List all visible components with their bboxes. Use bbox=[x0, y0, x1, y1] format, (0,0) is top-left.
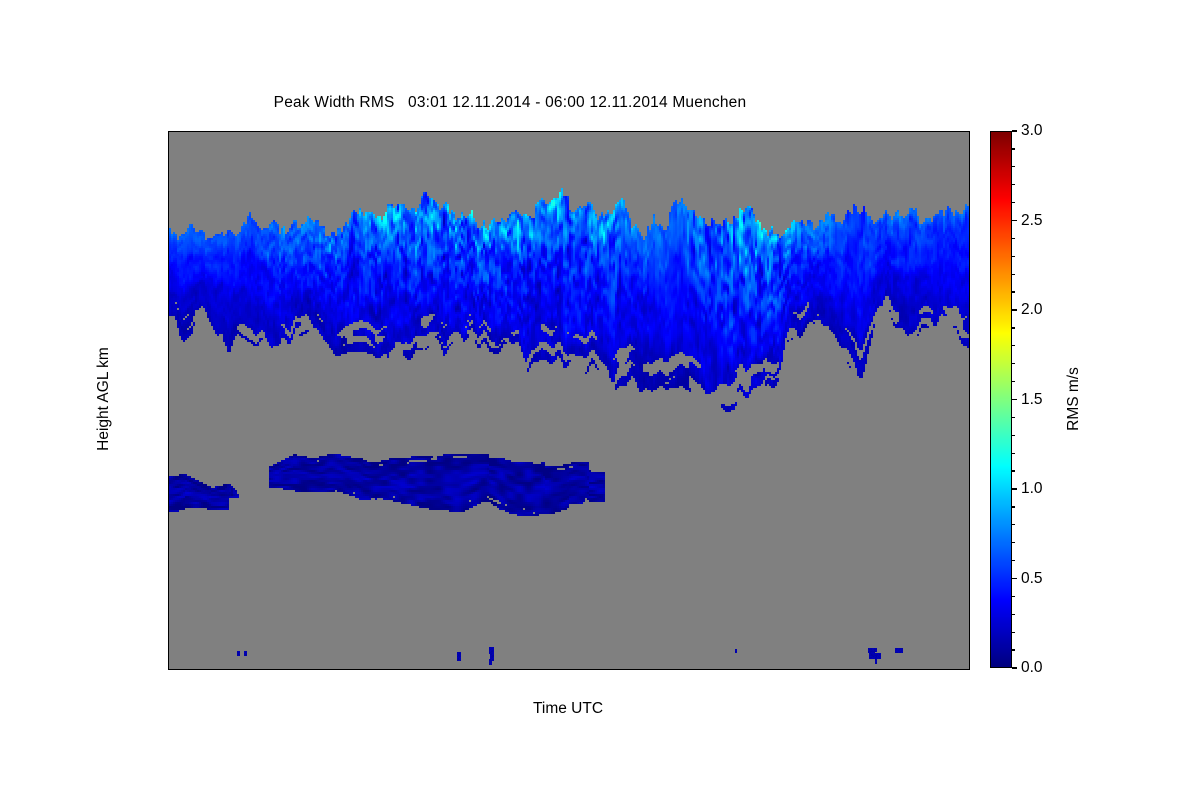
y-axis-tick bbox=[969, 159, 970, 161]
y-axis-tick bbox=[969, 299, 970, 301]
y-axis-tick bbox=[969, 253, 970, 255]
y-axis-tick bbox=[168, 393, 169, 395]
colorbar-minor-tick bbox=[1012, 148, 1015, 149]
y-axis-tick bbox=[969, 346, 970, 348]
colorbar-minor-tick bbox=[1012, 166, 1015, 167]
x-axis-tick bbox=[755, 669, 757, 670]
x-axis-tick bbox=[327, 669, 329, 670]
x-axis-tick bbox=[594, 669, 596, 670]
colorbar-minor-tick bbox=[1012, 614, 1015, 615]
colorbar-minor-tick bbox=[1012, 291, 1015, 292]
colorbar-tick-label: 0.5 bbox=[1021, 570, 1043, 588]
y-axis-tick bbox=[969, 579, 970, 581]
colorbar-minor-tick bbox=[1012, 184, 1015, 185]
y-axis-tick bbox=[969, 206, 970, 208]
colorbar-tick-label: 2.0 bbox=[1021, 301, 1043, 319]
colorbar-tick bbox=[1012, 399, 1017, 400]
x-axis-tick bbox=[274, 669, 276, 670]
y-axis-tick bbox=[168, 626, 169, 628]
y-axis-tick bbox=[168, 206, 169, 208]
colorbar-minor-tick bbox=[1012, 256, 1015, 257]
x-axis-tick bbox=[541, 131, 543, 132]
y-axis-tick bbox=[168, 486, 169, 488]
x-axis-tick bbox=[221, 131, 223, 132]
x-axis-tick bbox=[915, 669, 917, 670]
x-axis-tick bbox=[594, 131, 596, 132]
x-axis-label: Time UTC bbox=[533, 700, 603, 718]
y-axis-tick bbox=[168, 299, 169, 301]
colorbar-minor-tick bbox=[1012, 649, 1015, 650]
x-axis-tick bbox=[327, 131, 329, 132]
figure-canvas: Peak Width RMS 03:01 12.11.2014 - 06:00 … bbox=[0, 0, 1200, 800]
colorbar-minor-tick bbox=[1012, 381, 1015, 382]
x-axis-tick bbox=[274, 131, 276, 132]
colorbar-tick bbox=[1012, 220, 1017, 221]
colorbar-tick-label: 1.5 bbox=[1021, 391, 1043, 409]
x-axis-tick bbox=[915, 131, 917, 132]
y-axis-tick bbox=[168, 253, 169, 255]
y-axis-tick bbox=[969, 626, 970, 628]
x-axis-tick bbox=[381, 669, 383, 670]
x-axis-tick bbox=[381, 131, 383, 132]
colorbar-minor-tick bbox=[1012, 327, 1015, 328]
x-axis-tick bbox=[488, 669, 490, 670]
x-axis-tick bbox=[541, 669, 543, 670]
colorbar-minor-tick bbox=[1012, 542, 1015, 543]
colorbar-minor-tick bbox=[1012, 453, 1015, 454]
colorbar-minor-tick bbox=[1012, 560, 1015, 561]
x-axis-tick bbox=[221, 669, 223, 670]
x-axis-tick bbox=[701, 669, 703, 670]
y-axis-tick bbox=[168, 439, 169, 441]
colorbar-minor-tick bbox=[1012, 596, 1015, 597]
x-axis-tick bbox=[755, 131, 757, 132]
y-axis-tick bbox=[969, 393, 970, 395]
x-axis-tick bbox=[808, 669, 810, 670]
x-axis-tick bbox=[648, 669, 650, 670]
x-axis-tick bbox=[434, 131, 436, 132]
colorbar-minor-tick bbox=[1012, 435, 1015, 436]
x-axis-tick bbox=[648, 131, 650, 132]
colorbar-minor-tick bbox=[1012, 202, 1015, 203]
colorbar-image bbox=[991, 132, 1011, 667]
y-axis-tick bbox=[168, 159, 169, 161]
y-axis-tick bbox=[168, 579, 169, 581]
colorbar-tick bbox=[1012, 667, 1017, 668]
colorbar-tick bbox=[1012, 578, 1017, 579]
y-axis-tick bbox=[168, 533, 169, 535]
colorbar-minor-tick bbox=[1012, 417, 1015, 418]
colorbar[interactable]: 0.00.51.01.52.02.53.0 bbox=[990, 131, 1012, 668]
colorbar-tick-label: 3.0 bbox=[1021, 122, 1043, 140]
y-axis-tick bbox=[969, 486, 970, 488]
x-axis-tick bbox=[434, 669, 436, 670]
colorbar-minor-tick bbox=[1012, 238, 1015, 239]
x-axis-tick bbox=[808, 131, 810, 132]
colorbar-minor-tick bbox=[1012, 470, 1015, 471]
y-axis-tick bbox=[168, 346, 169, 348]
chart-title: Peak Width RMS 03:01 12.11.2014 - 06:00 … bbox=[0, 94, 1020, 112]
colorbar-tick bbox=[1012, 488, 1017, 489]
colorbar-minor-tick bbox=[1012, 506, 1015, 507]
x-axis-tick bbox=[861, 669, 863, 670]
colorbar-minor-tick bbox=[1012, 345, 1015, 346]
colorbar-label: RMS m/s bbox=[1065, 367, 1083, 431]
x-axis-tick bbox=[488, 131, 490, 132]
y-axis-label: Height AGL km bbox=[95, 347, 113, 451]
heatmap-image bbox=[169, 132, 969, 669]
colorbar-tick-label: 2.5 bbox=[1021, 212, 1043, 230]
colorbar-tick-label: 1.0 bbox=[1021, 480, 1043, 498]
colorbar-tick bbox=[1012, 130, 1017, 131]
plot-area[interactable]: 24681003:3004:0004:3005:0005:30 bbox=[168, 131, 970, 670]
colorbar-minor-tick bbox=[1012, 524, 1015, 525]
colorbar-minor-tick bbox=[1012, 363, 1015, 364]
colorbar-tick-label: 0.0 bbox=[1021, 659, 1043, 677]
y-axis-tick bbox=[969, 533, 970, 535]
colorbar-tick bbox=[1012, 309, 1017, 310]
colorbar-gradient bbox=[990, 131, 1012, 668]
x-axis-tick bbox=[701, 131, 703, 132]
x-axis-tick bbox=[968, 669, 970, 670]
colorbar-minor-tick bbox=[1012, 632, 1015, 633]
y-axis-tick bbox=[969, 439, 970, 441]
x-axis-tick bbox=[861, 131, 863, 132]
colorbar-minor-tick bbox=[1012, 274, 1015, 275]
x-axis-tick bbox=[968, 131, 970, 132]
